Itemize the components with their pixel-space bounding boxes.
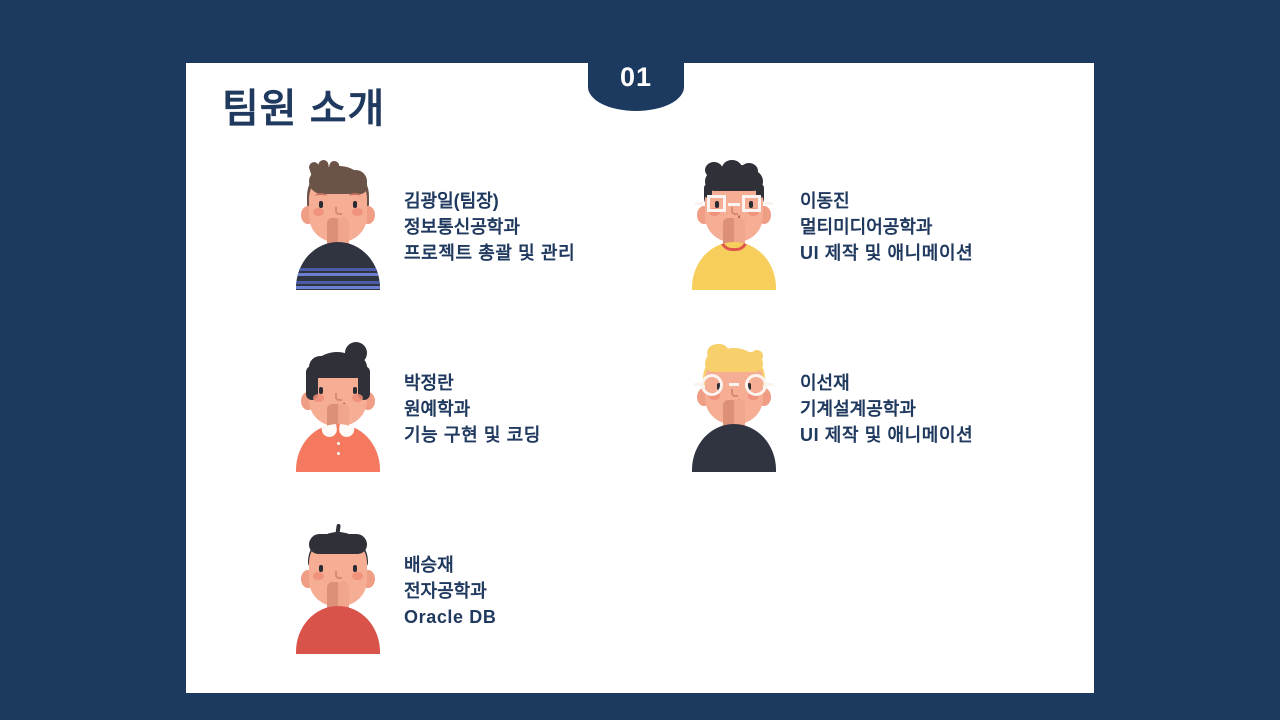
nose-icon [335, 393, 342, 401]
eye-icon [319, 387, 323, 394]
blush-icon [313, 572, 324, 580]
blouse-icon [296, 424, 380, 472]
eye-icon [319, 565, 323, 572]
collar-icon [720, 242, 748, 251]
button-icon [337, 452, 340, 455]
glasses-lens-icon [707, 195, 726, 212]
blush-icon [352, 394, 363, 402]
member-role: 기능 구현 및 코딩 [404, 422, 541, 448]
slide: 01 팀원 소개 [0, 0, 1280, 720]
button-icon [337, 442, 340, 445]
member-role: Oracle DB [404, 604, 496, 630]
avatar [296, 524, 380, 654]
eye-icon [353, 201, 357, 208]
avatar [296, 342, 380, 472]
hair-fringe-icon [309, 534, 367, 554]
member-role: 프로젝트 총괄 및 관리 [404, 240, 575, 266]
member-info: 이선재 기계설계공학과 UI 제작 및 애니메이션 [800, 342, 973, 448]
glasses-bridge-icon [728, 203, 740, 206]
blush-icon [352, 572, 363, 580]
glasses-lens-icon [742, 195, 761, 212]
member-card-2[interactable]: 이동진 멀티미디어공학과 UI 제작 및 애니메이션 [692, 160, 973, 290]
member-card-4[interactable]: 이선재 기계설계공학과 UI 제작 및 애니메이션 [692, 342, 973, 472]
shirt-icon [692, 424, 776, 472]
member-card-3[interactable]: 박정란 원예학과 기능 구현 및 코딩 [296, 342, 541, 472]
member-role: UI 제작 및 애니메이션 [800, 240, 973, 266]
member-card-5[interactable]: 배승재 전자공학과 Oracle DB [296, 524, 496, 654]
hair-fringe-icon [705, 352, 763, 372]
member-department: 기계설계공학과 [800, 396, 973, 422]
glasses-bridge-icon [729, 383, 739, 386]
blush-icon [313, 394, 324, 402]
eye-icon [353, 387, 357, 394]
member-department: 원예학과 [404, 396, 541, 422]
glasses-temple-icon [695, 202, 703, 205]
section-number-badge: 01 [588, 63, 684, 111]
avatar [692, 160, 776, 290]
member-department: 정보통신공학과 [404, 214, 575, 240]
eyebrow-icon [315, 193, 327, 199]
member-name: 배승재 [404, 552, 496, 578]
glasses-lens-icon [701, 374, 723, 396]
hair-fringe-icon [705, 170, 763, 191]
member-department: 멀티미디어공학과 [800, 214, 973, 240]
member-info: 배승재 전자공학과 Oracle DB [404, 524, 496, 630]
avatar [296, 160, 380, 290]
page-title: 팀원 소개 [222, 76, 385, 134]
member-info: 김광일(팀장) 정보통신공학과 프로젝트 총괄 및 관리 [404, 160, 575, 266]
nose-icon [731, 389, 738, 397]
collar-icon [321, 424, 338, 438]
shirt-icon [692, 242, 776, 290]
eye-icon [353, 565, 357, 572]
member-department: 전자공학과 [404, 578, 496, 604]
nose-icon [335, 571, 342, 579]
member-name: 이선재 [800, 370, 973, 396]
shirt-icon [296, 606, 380, 654]
glasses-temple-icon [766, 383, 774, 386]
glasses-temple-icon [765, 202, 773, 205]
section-number-label: 01 [620, 64, 652, 91]
shirt-icon [296, 242, 380, 290]
avatar [692, 342, 776, 472]
eye-icon [319, 201, 323, 208]
glasses-lens-icon [745, 374, 767, 396]
member-info: 박정란 원예학과 기능 구현 및 코딩 [404, 342, 541, 448]
hair-fringe-icon [309, 170, 367, 194]
nose-icon [335, 207, 342, 215]
member-card-1[interactable]: 김광일(팀장) 정보통신공학과 프로젝트 총괄 및 관리 [296, 160, 575, 290]
member-name: 이동진 [800, 188, 973, 214]
member-name: 김광일(팀장) [404, 188, 575, 214]
blush-icon [352, 208, 363, 216]
collar-icon [338, 424, 355, 438]
eyebrow-icon [349, 193, 361, 199]
member-name: 박정란 [404, 370, 541, 396]
member-role: UI 제작 및 애니메이션 [800, 422, 973, 448]
blush-icon [313, 208, 324, 216]
member-info: 이동진 멀티미디어공학과 UI 제작 및 애니메이션 [800, 160, 973, 266]
